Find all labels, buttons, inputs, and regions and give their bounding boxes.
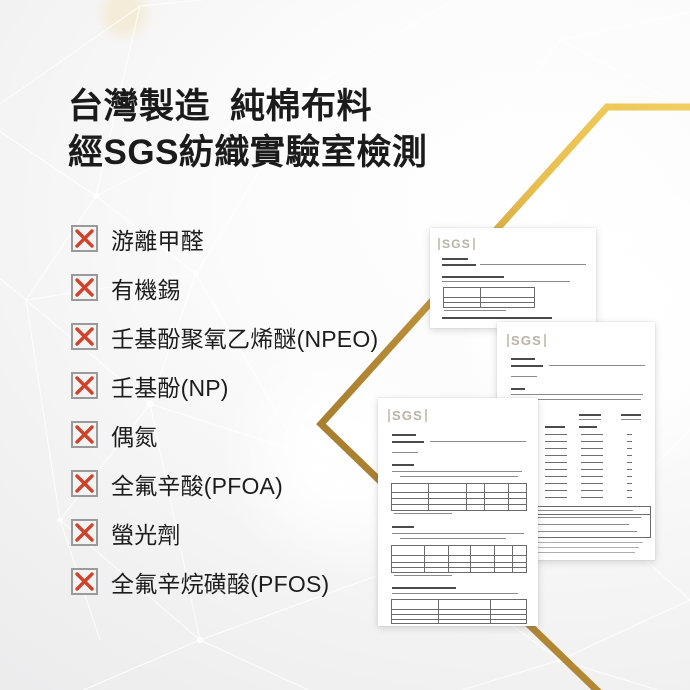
list-item-label: 壬基酚(NP) (111, 369, 229, 403)
red-x-icon (71, 323, 98, 350)
page-title: 台灣製造純棉布料 經SGS紡織實驗室檢測 (68, 86, 628, 174)
substance-checklist: 游離甲醛 有機錫 壬基酚聚氧乙烯醚(NPEO) 壬基酚(NP) (71, 222, 378, 614)
sgs-logo: SGS (392, 408, 423, 423)
list-item: 螢光劑 (71, 516, 378, 549)
list-item-label: 有機錫 (111, 271, 181, 305)
red-x-icon (71, 519, 98, 546)
red-x-icon (71, 568, 98, 595)
red-x-icon (71, 225, 98, 252)
list-item: 游離甲醛 (71, 222, 378, 255)
list-item-label: 游離甲醛 (111, 222, 204, 256)
sgs-report-back[interactable]: SGS (430, 228, 596, 328)
red-x-icon (71, 372, 98, 399)
list-item: 偶氮 (71, 418, 378, 451)
list-item: 全氟辛烷磺酸(PFOS) (71, 565, 378, 598)
headline-material: 純棉布料 (230, 87, 372, 126)
list-item: 壬基酚聚氧乙烯醚(NPEO) (71, 320, 378, 353)
headline-line-1: 台灣製造純棉布料 (68, 86, 628, 127)
sgs-report-front[interactable]: SGS (378, 398, 538, 626)
sgs-logo: SGS (442, 237, 471, 251)
list-item-label: 全氟辛烷磺酸(PFOS) (111, 565, 329, 599)
poster-canvas: 台灣製造純棉布料 經SGS紡織實驗室檢測 游離甲醛 有機錫 壬基酚聚氧乙烯醚 (0, 0, 690, 690)
list-item-label: 全氟辛酸(PFOA) (111, 467, 283, 501)
headline-origin: 台灣製造 (68, 87, 210, 126)
headline-line-2: 經SGS紡織實驗室檢測 (68, 132, 628, 173)
sgs-logo: SGS (511, 333, 542, 348)
list-item-label: 壬基酚聚氧乙烯醚(NPEO) (111, 320, 378, 354)
red-x-icon (71, 274, 98, 301)
list-item-label: 螢光劑 (111, 516, 181, 550)
list-item-label: 偶氮 (111, 418, 157, 452)
list-item: 有機錫 (71, 271, 378, 304)
red-x-icon (71, 470, 98, 497)
list-item: 全氟辛酸(PFOA) (71, 467, 378, 500)
red-x-icon (71, 421, 98, 448)
list-item: 壬基酚(NP) (71, 369, 378, 402)
